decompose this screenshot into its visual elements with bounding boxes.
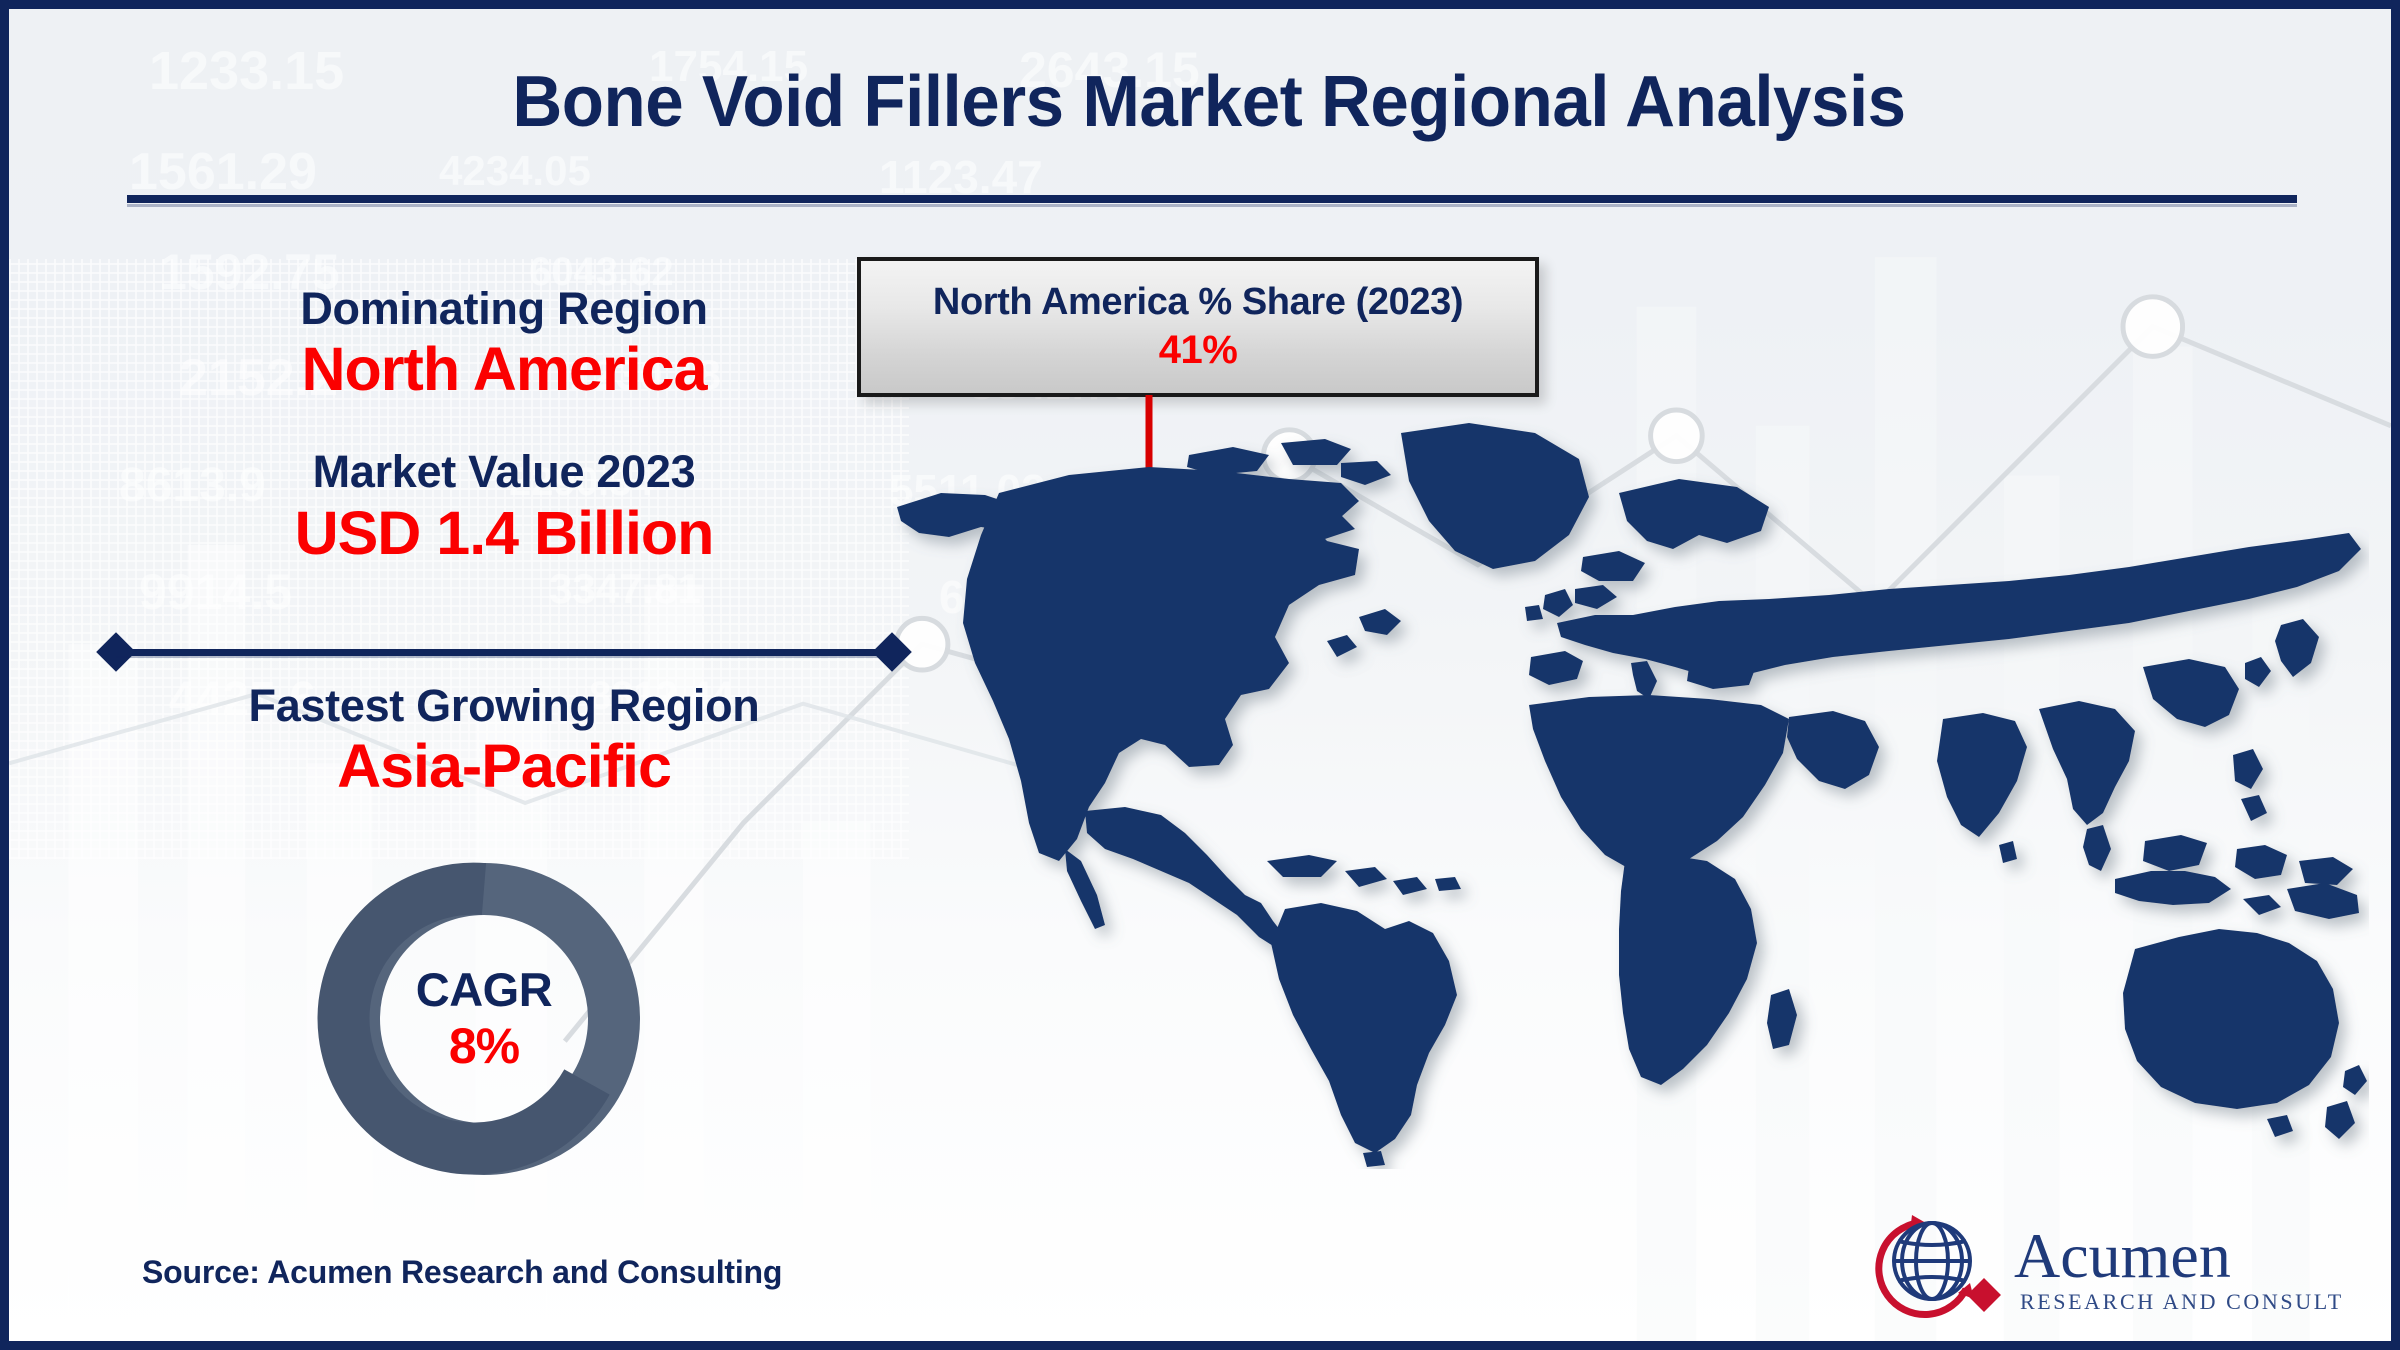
market-value-label: Market Value 2023 [64, 447, 944, 497]
page-title: Bone Void Fillers Market Regional Analys… [57, 61, 2361, 143]
logo-red-diamond-icon [1967, 1278, 2001, 1312]
map-continents [897, 423, 2367, 1167]
dominating-region-label: Dominating Region [64, 284, 944, 334]
svg-text:4234.05: 4234.05 [439, 147, 591, 194]
logo-wordmark: Acumen [2014, 1220, 2231, 1291]
left-stats-column-top: Dominating Region North America Market V… [64, 284, 944, 567]
callout-title: North America % Share (2023) [933, 282, 1463, 324]
svg-text:9914.5: 9914.5 [139, 564, 292, 620]
donut-center-label-group: CAGR 8% [309, 854, 659, 1184]
market-value-value: USD 1.4 Billion [64, 500, 944, 567]
cagr-label: CAGR [416, 965, 552, 1014]
north-america-share-callout: North America % Share (2023) 41% [857, 257, 1539, 397]
fastest-growing-region-label: Fastest Growing Region [64, 681, 944, 731]
dominating-region-value: North America [64, 336, 944, 403]
section-divider [94, 647, 914, 657]
source-attribution: Source: Acumen Research and Consulting [142, 1254, 782, 1291]
acumen-logo: Acumen RESEARCH AND CONSULTING [1874, 1205, 2344, 1323]
callout-value: 41% [1159, 328, 1238, 372]
svg-text:3347.81: 3347.81 [549, 565, 701, 612]
logo-globe-icon [1894, 1223, 1970, 1299]
left-stats-column-bottom: Fastest Growing Region Asia-Pacific [64, 681, 944, 800]
title-underline-rule [127, 195, 2297, 203]
logo-tagline: RESEARCH AND CONSULTING [2020, 1289, 2344, 1314]
cagr-donut-chart: CAGR 8% [309, 854, 659, 1184]
svg-text:1561.29: 1561.29 [129, 143, 317, 201]
fastest-growing-region-value: Asia-Pacific [64, 733, 944, 800]
infographic-canvas: 1233.15 1754.15 2643.15 1561.29 4234.05 … [0, 0, 2400, 1350]
world-map-graphic [889, 409, 2369, 1169]
divider-bar [116, 649, 892, 656]
cagr-value: 8% [449, 1020, 519, 1073]
